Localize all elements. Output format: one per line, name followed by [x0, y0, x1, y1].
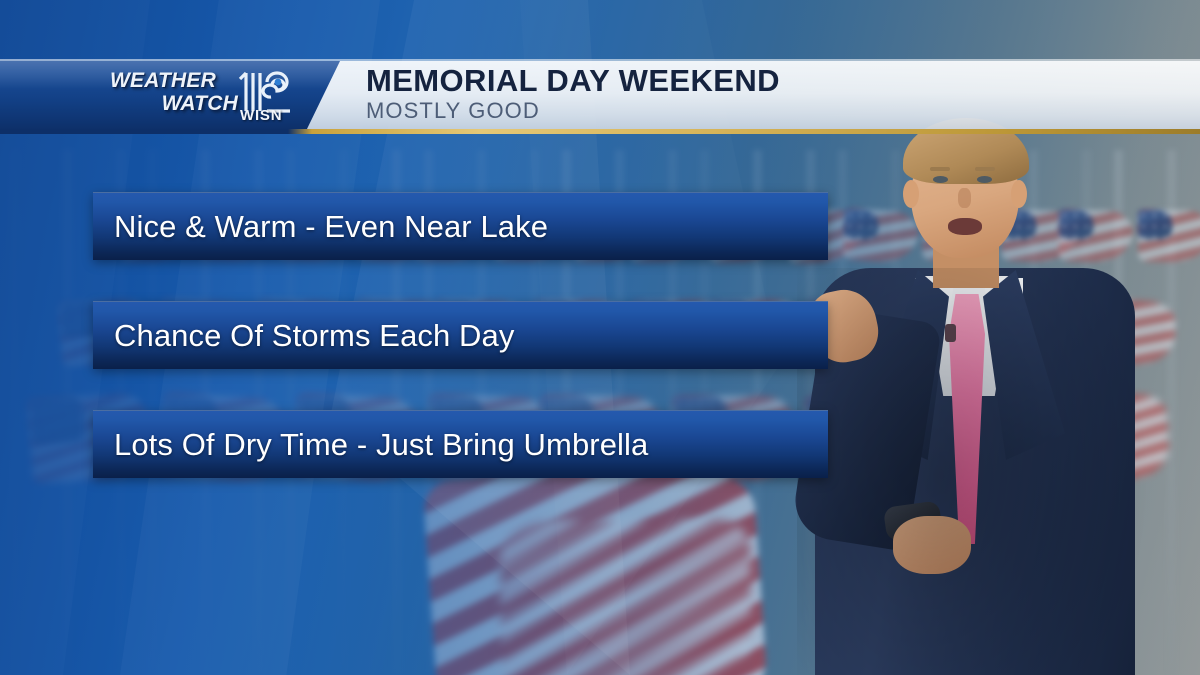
banner-gold-rule — [0, 129, 1200, 134]
presenter-hand-lower — [893, 516, 971, 574]
forecast-bullet-text-1: Nice & Warm - Even Near Lake — [93, 209, 548, 245]
weatherwatch-wordmark: WEATHER WATCH — [108, 70, 240, 126]
banner-subhead: MOSTLY GOOD — [366, 99, 780, 123]
forecast-bullet-bar-2: Chance Of Storms Each Day — [93, 301, 828, 369]
title-banner: WEATHER WATCH — [0, 61, 1200, 135]
presenter-nose — [958, 188, 971, 208]
presenter-eyebrow-right — [975, 167, 995, 171]
forecast-bullet-bar-1: Nice & Warm - Even Near Lake — [93, 192, 828, 260]
forecast-bullet-text-2: Chance Of Storms Each Day — [93, 318, 515, 354]
broadcast-screenshot: WEATHER WATCH — [0, 0, 1200, 675]
presenter-eye-left — [933, 176, 948, 183]
presenter-ear-left — [903, 180, 919, 208]
presenter-lapel-microphone — [945, 324, 956, 342]
presenter-ear-right — [1011, 180, 1027, 208]
forecast-bullet-bar-3: Lots Of Dry Time - Just Bring Umbrella — [93, 410, 828, 478]
banner-text-block: MEMORIAL DAY WEEKEND MOSTLY GOOD — [366, 65, 780, 123]
presenter-eyebrow-left — [930, 167, 950, 171]
banner-headline: MEMORIAL DAY WEEKEND — [366, 65, 780, 98]
presenter-mouth — [948, 218, 982, 235]
meteorologist-figure — [815, 118, 1145, 675]
station-callsign: WISN — [240, 107, 312, 125]
logo-line-weather: WEATHER — [108, 70, 240, 91]
logo-line-watch: WATCH — [108, 93, 240, 114]
presenter-eye-right — [977, 176, 992, 183]
weatherwatch-12-logo[interactable]: WEATHER WATCH — [108, 67, 313, 127]
forecast-bullet-text-3: Lots Of Dry Time - Just Bring Umbrella — [93, 427, 648, 463]
